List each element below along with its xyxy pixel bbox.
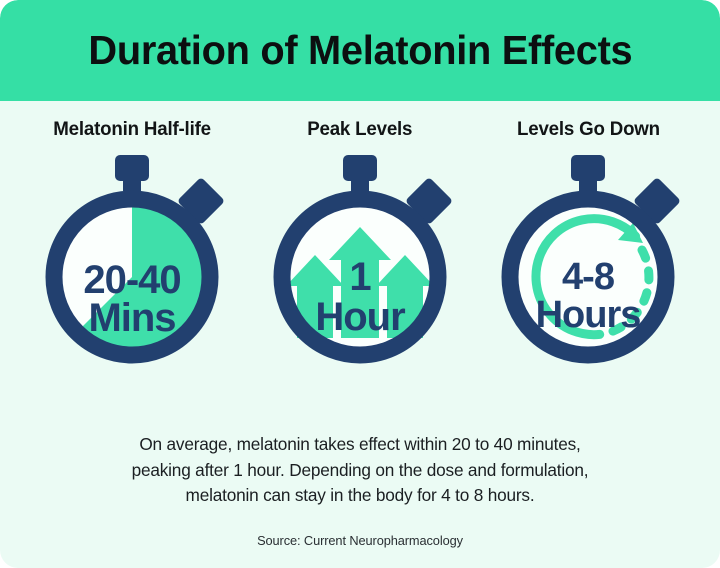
crown-neck [351, 177, 369, 191]
stopwatch-circular-arrow-icon: 4-8 Hours [477, 149, 699, 371]
column-label-1: Melatonin Half-life [53, 118, 211, 141]
dial-value-line-1: 1 [349, 255, 371, 299]
summary-line-3: melatonin can stay in the body for 4 to … [65, 483, 656, 509]
summary-paragraph: On average, melatonin takes effect withi… [60, 432, 660, 509]
dial-value-line-2: Hour [315, 295, 405, 339]
page-title: Duration of Melatonin Effects [88, 27, 632, 74]
dial-value-line-2: Mins [88, 296, 175, 340]
column-label-2: Peak Levels [307, 118, 412, 141]
stopwatch-columns: Melatonin Half-life 20-40 Mins [18, 118, 702, 398]
summary-line-1: On average, melatonin takes effect withi… [65, 432, 656, 458]
stopwatch-circular-svg: 4-8 Hours [477, 149, 699, 371]
crown-neck [579, 177, 597, 191]
stopwatch-pie-svg: 20-40 Mins [21, 149, 243, 371]
dial-value-line-1: 4-8 [562, 256, 614, 298]
stopwatch-pie-icon: 20-40 Mins [21, 149, 243, 371]
column-levels-go-down: Levels Go Down 4-8 Hours [474, 118, 702, 371]
dial-value-line-2: Hours [536, 294, 641, 336]
column-peak-levels: Peak Levels 1 Hour [246, 118, 474, 371]
stopwatch-arrows-svg: 1 Hour [249, 149, 471, 371]
column-label-3: Levels Go Down [517, 118, 660, 141]
infographic-card: Duration of Melatonin Effects Melatonin … [0, 0, 720, 568]
header-band: Duration of Melatonin Effects [0, 0, 720, 101]
column-melatonin-half-life: Melatonin Half-life 20-40 Mins [18, 118, 246, 371]
source-credit: Source: Current Neuropharmacology [0, 533, 720, 548]
stopwatch-arrows-up-icon: 1 Hour [249, 149, 471, 371]
crown-neck [123, 177, 141, 191]
summary-line-2: peaking after 1 hour. Depending on the d… [65, 458, 656, 484]
